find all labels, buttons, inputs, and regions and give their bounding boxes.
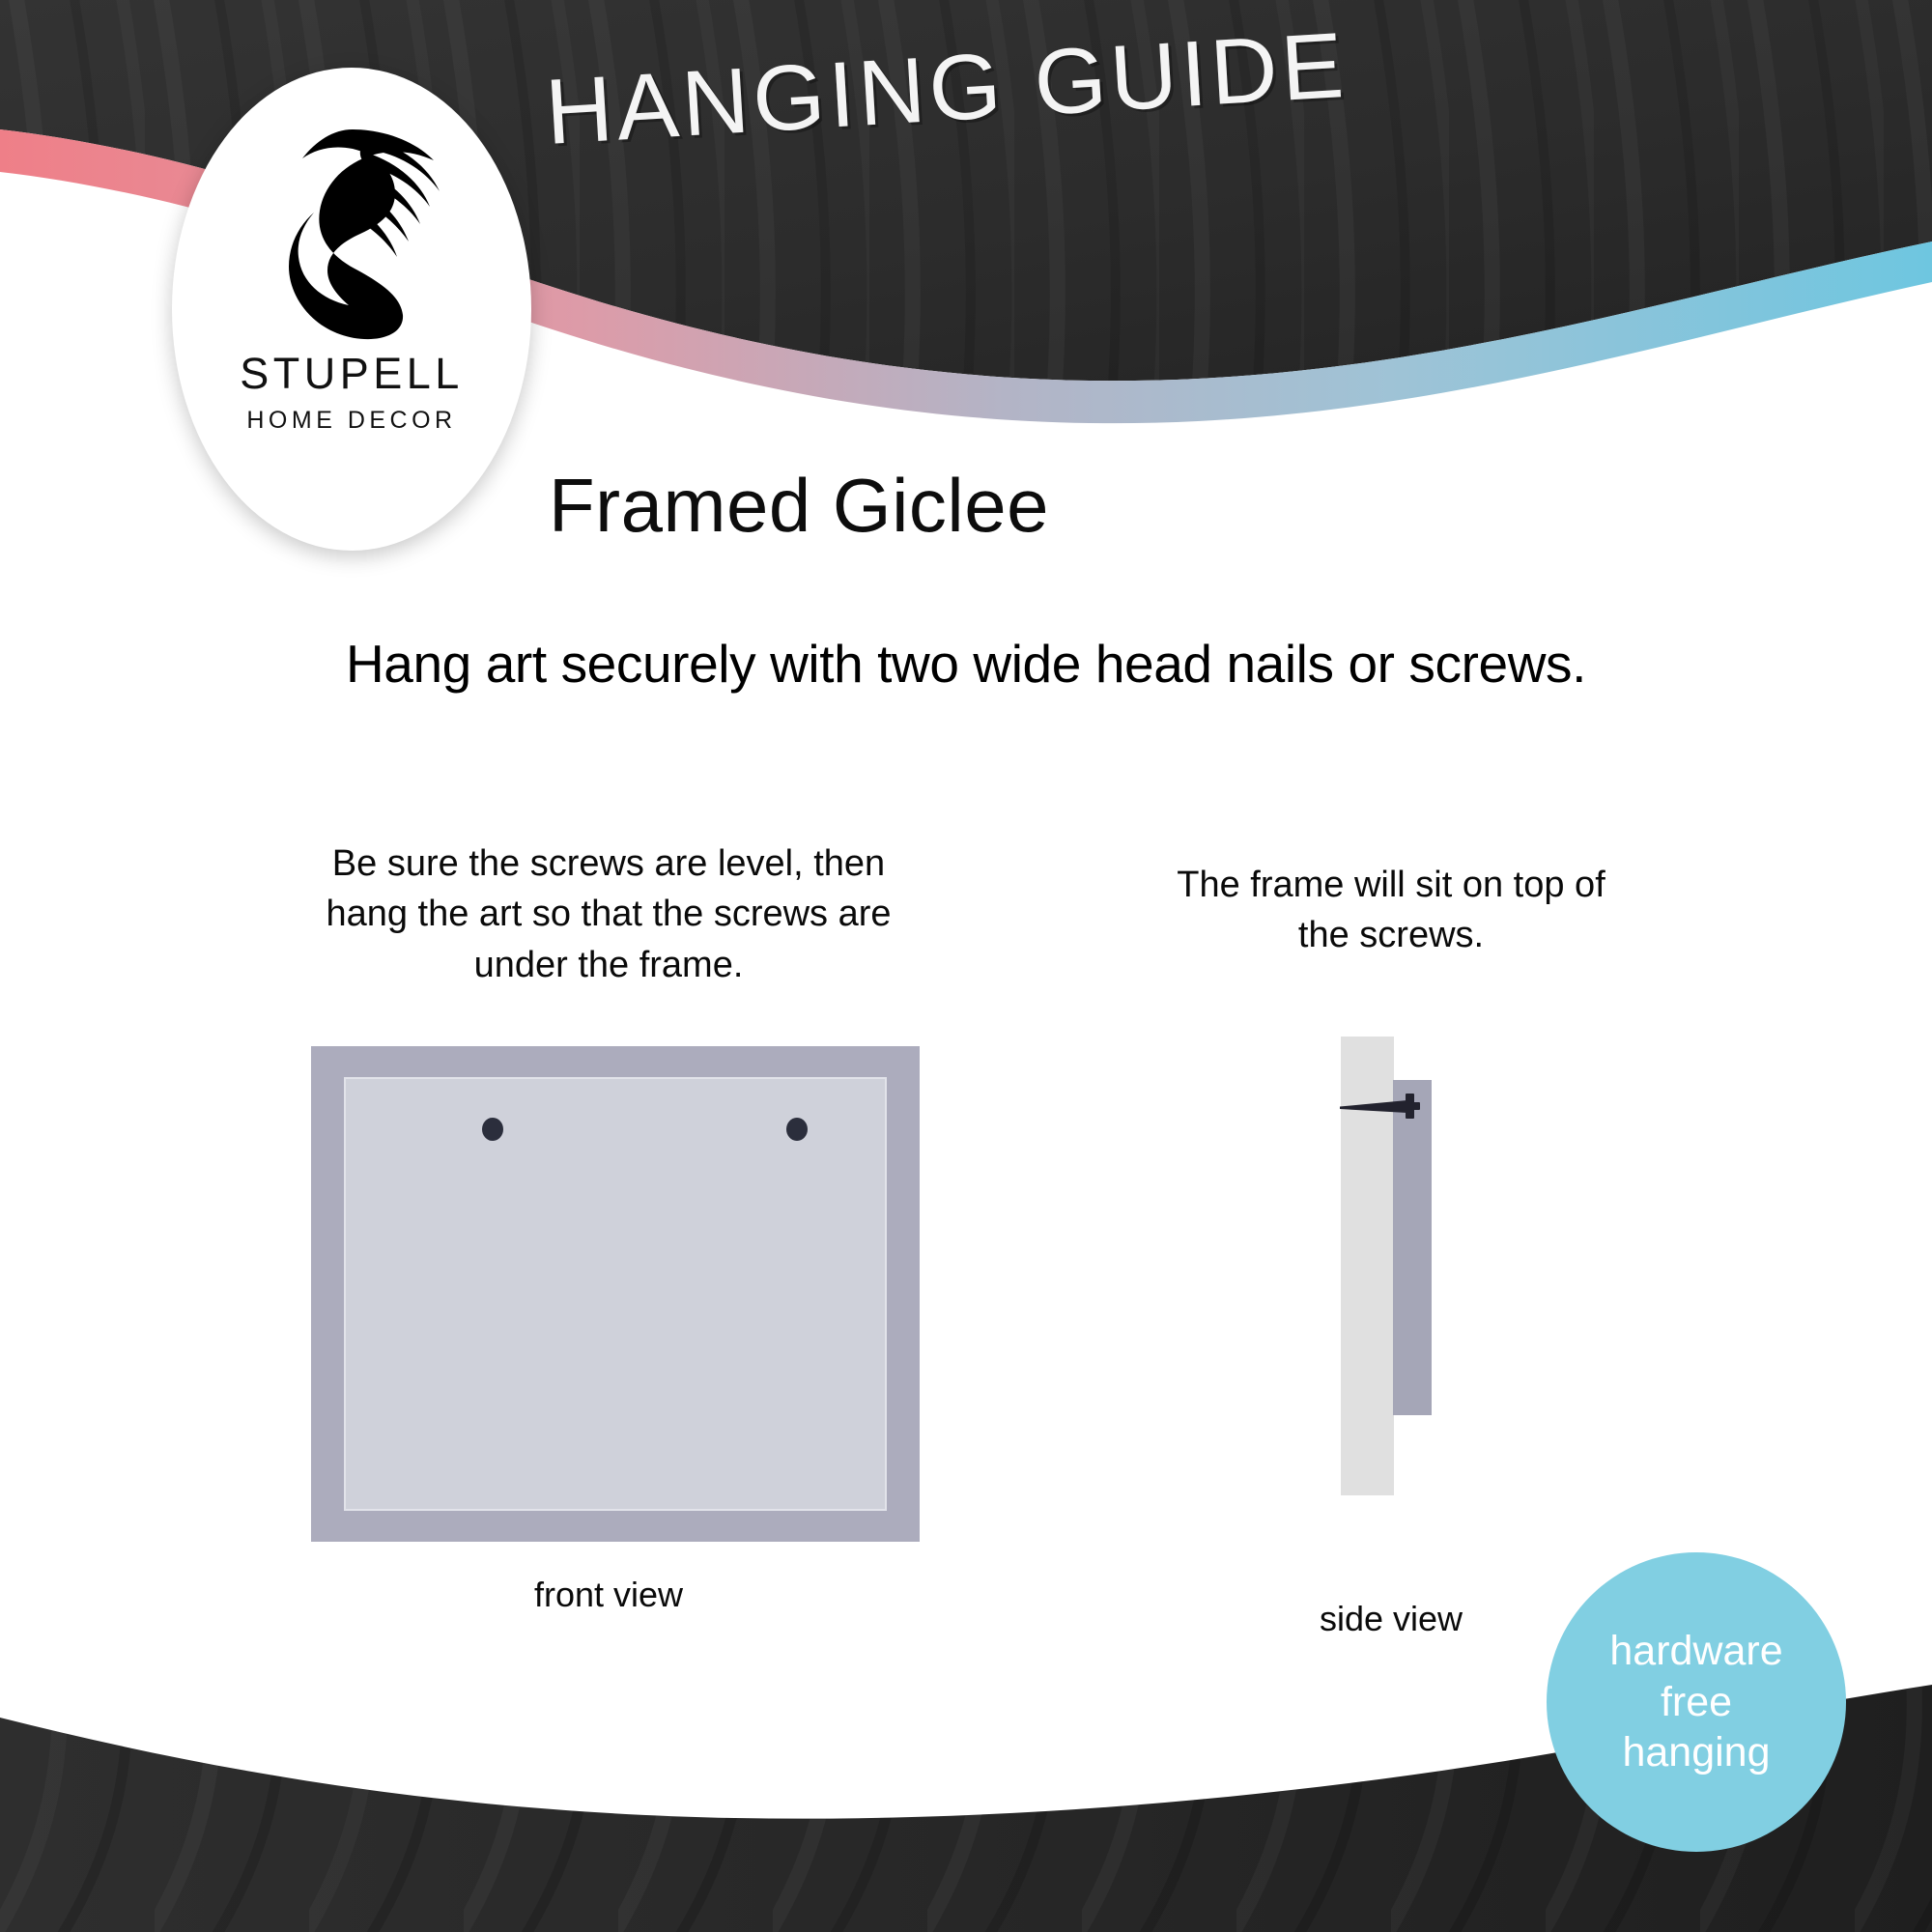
brand-logo-badge: STUPELL HOME DECOR bbox=[172, 68, 531, 551]
badge-line-3: hanging bbox=[1622, 1727, 1770, 1777]
brand-subwordmark: HOME DECOR bbox=[246, 409, 456, 433]
front-view-caption: Be sure the screws are level, then hang … bbox=[290, 838, 927, 990]
brand-wordmark: STUPELL bbox=[240, 352, 464, 395]
badge-line-1: hardware bbox=[1609, 1626, 1782, 1676]
main-instruction-text: Hang art securely with two wide head nai… bbox=[0, 633, 1932, 695]
side-view-diagram bbox=[1285, 1014, 1594, 1555]
screw-dot-right bbox=[786, 1118, 808, 1141]
side-view-caption: The frame will sit on top of the screws. bbox=[1150, 860, 1633, 961]
product-subtitle: Framed Giclee bbox=[549, 462, 1049, 550]
side-view-label: side view bbox=[1198, 1599, 1584, 1639]
hanging-guide-page: HANGING GUIDE STUPELL HOME DECOR Framed … bbox=[0, 0, 1932, 1932]
front-view-diagram bbox=[311, 1046, 920, 1542]
hardware-free-hanging-badge: hardware free hanging bbox=[1547, 1552, 1846, 1852]
nail-icon bbox=[1338, 1090, 1444, 1128]
front-view-label: front view bbox=[319, 1575, 898, 1615]
side-view-frame-profile bbox=[1393, 1080, 1432, 1415]
badge-line-2: free bbox=[1661, 1677, 1732, 1727]
front-view-mat bbox=[344, 1077, 887, 1511]
stupell-swan-s-icon bbox=[248, 122, 455, 342]
screw-dot-left bbox=[482, 1118, 503, 1141]
